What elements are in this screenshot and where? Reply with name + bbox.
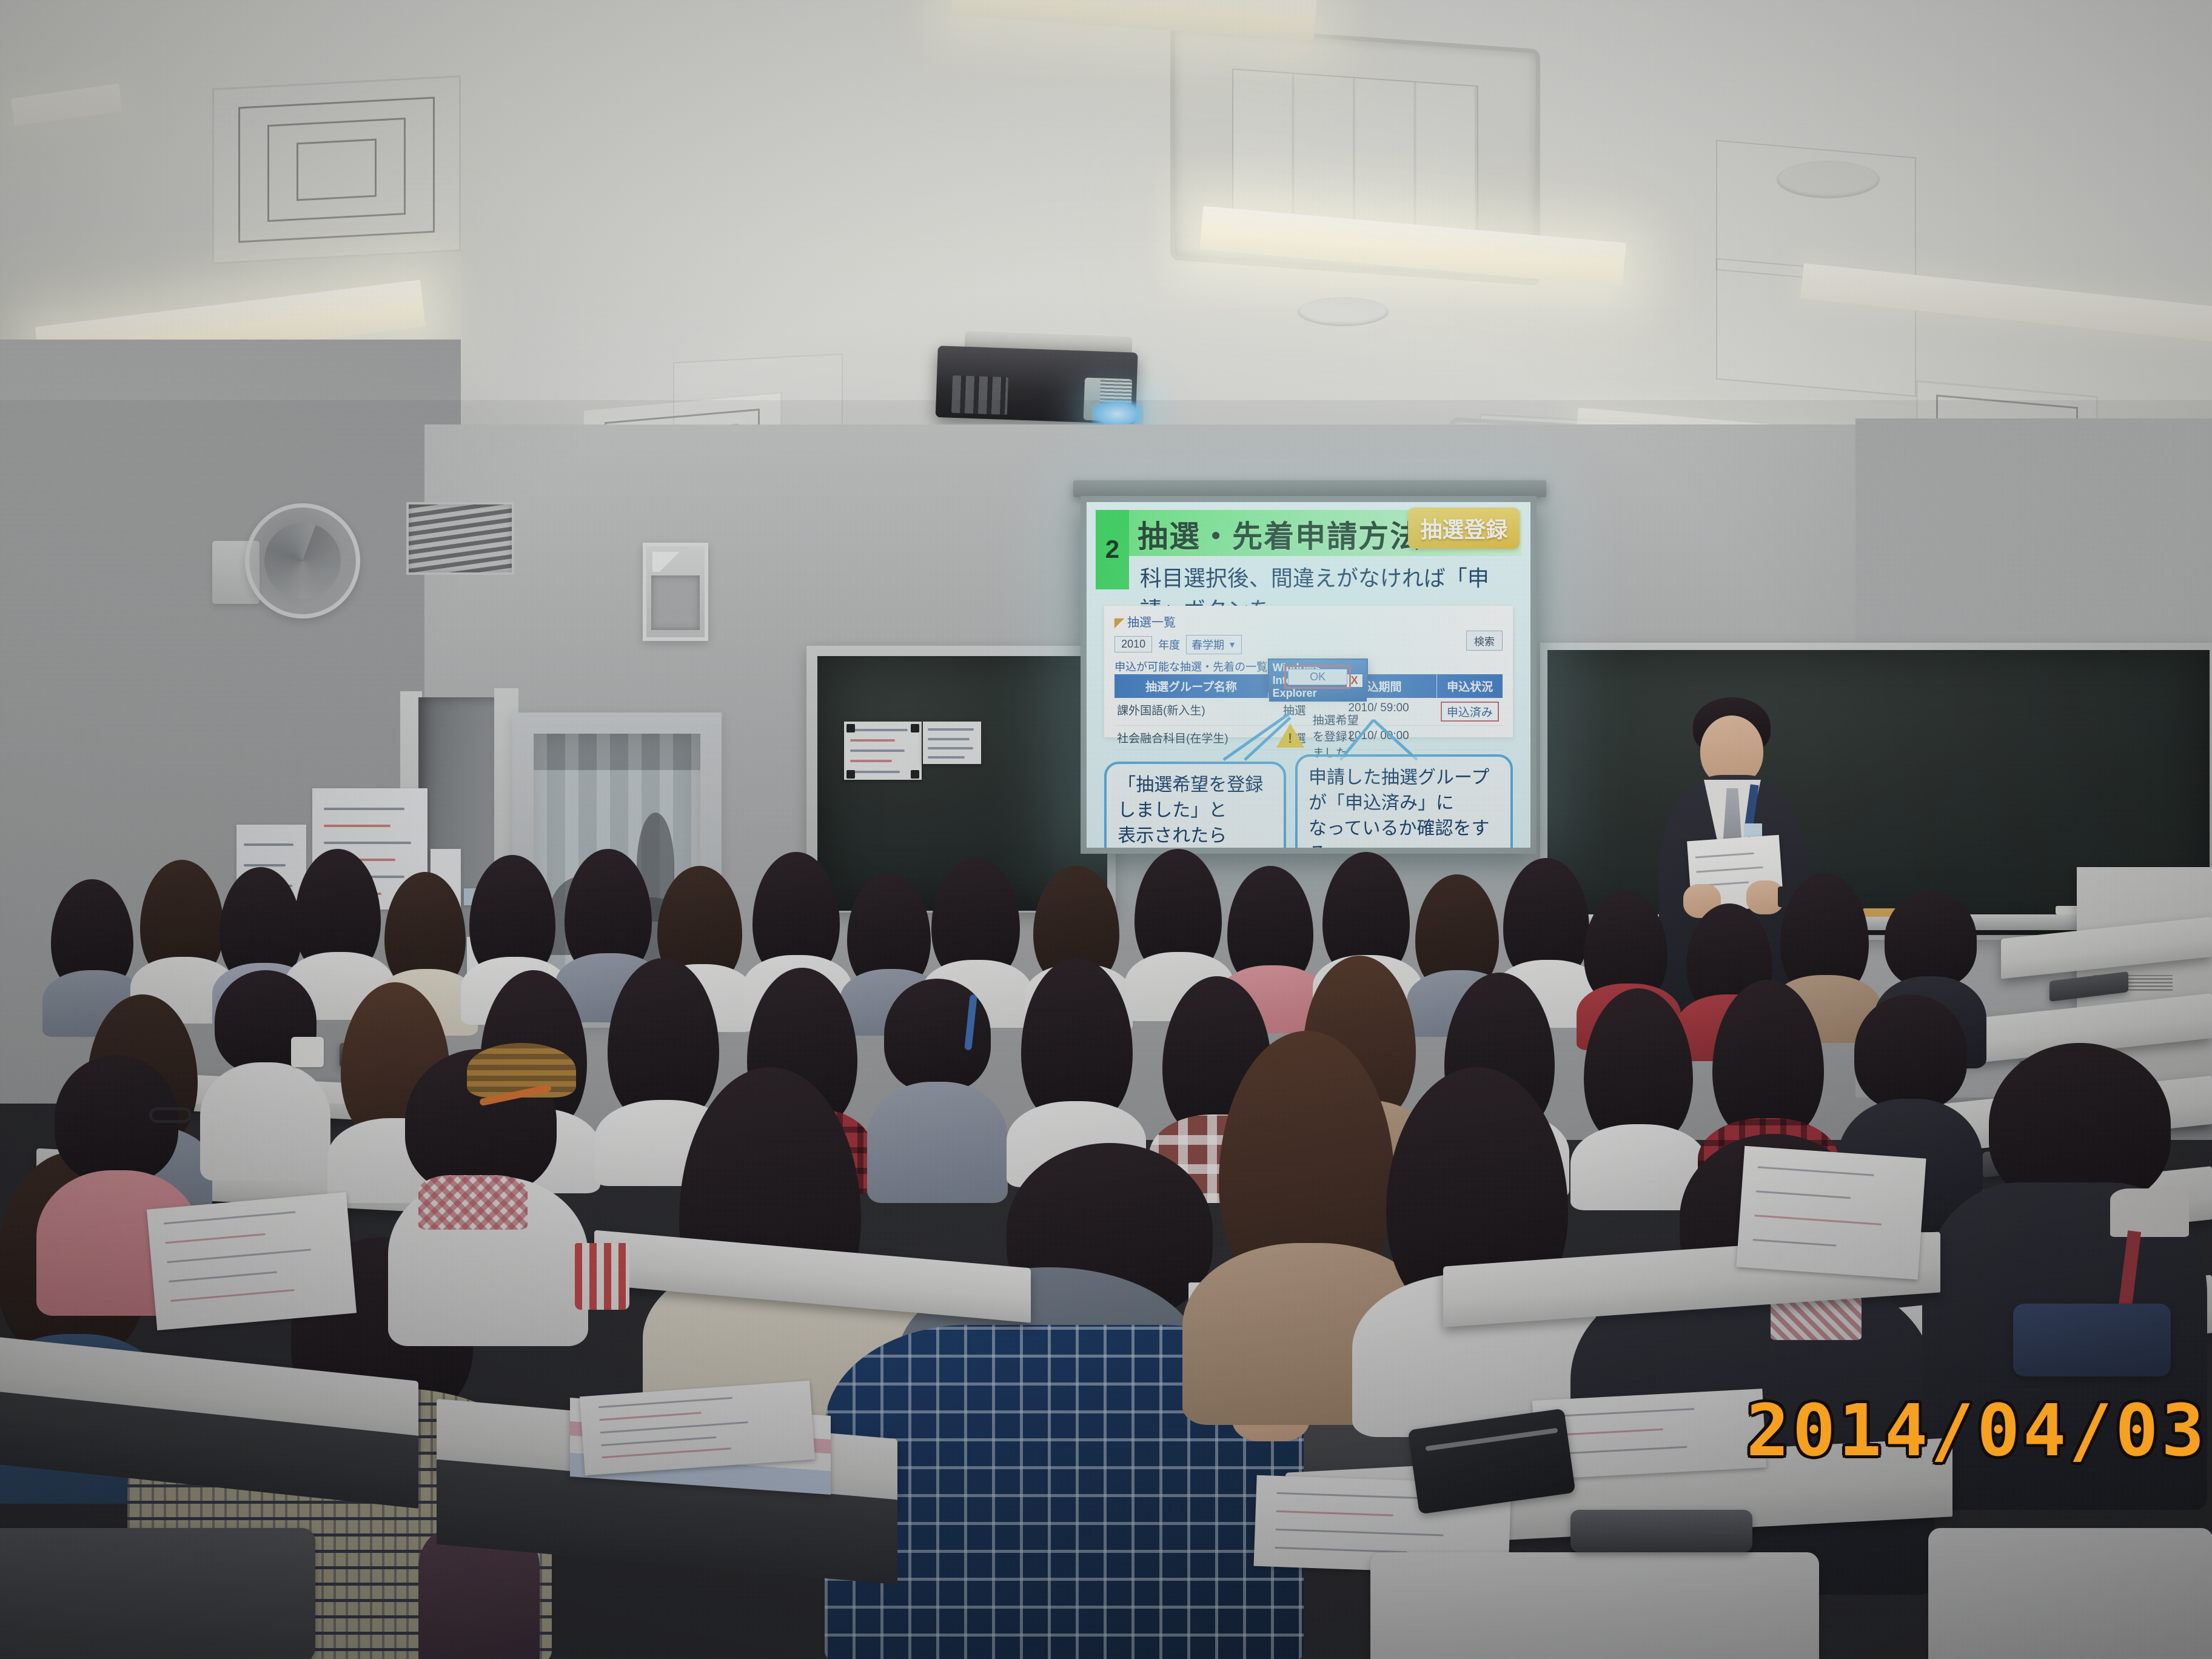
blackboard-magnet-2[interactable] bbox=[911, 724, 919, 732]
speaker-mesh-icon bbox=[651, 575, 700, 630]
handout-paper-5[interactable] bbox=[1736, 1146, 1926, 1279]
callout-left-line1: 「抽選希望を登録しました」と bbox=[1118, 773, 1273, 823]
projector-keypad-icon bbox=[951, 375, 1008, 415]
student-shirt-collar bbox=[2110, 1188, 2189, 1237]
speaker-logo-icon bbox=[652, 552, 688, 572]
knit-hat[interactable] bbox=[467, 1043, 576, 1098]
callout-left-line2: 表示されたら「OK」を bbox=[1118, 823, 1273, 848]
blackboard-poster-2 bbox=[923, 722, 981, 764]
student-m2 bbox=[200, 970, 330, 1176]
ceiling-speaker-dot-2 bbox=[1298, 297, 1389, 326]
student-hair bbox=[1885, 891, 1977, 987]
foreground-chair-1[interactable] bbox=[1370, 1552, 1819, 1659]
lecture-hall-photo: 2 抽選・先着申請方法 抽選登録 科目選択後、間違えがなければ「申請」ボタンを … bbox=[0, 0, 2212, 1659]
foreground-chair-arm[interactable] bbox=[1570, 1510, 1752, 1552]
blackboard-magnet-4[interactable] bbox=[911, 770, 919, 779]
blackboard-magnet-3[interactable] bbox=[846, 770, 855, 779]
handout-paper-4[interactable] bbox=[147, 1192, 357, 1330]
camera-date-stamp: 2014/04/03 bbox=[1746, 1389, 2207, 1472]
blackboard-poster-1 bbox=[844, 722, 922, 780]
wall-ventilation-grille bbox=[406, 502, 514, 575]
student-top bbox=[200, 1062, 330, 1181]
tote-bag[interactable] bbox=[2013, 1304, 2171, 1376]
projection-screen: 2 抽選・先着申請方法 抽選登録 科目選択後、間違えがなければ「申請」ボタンを … bbox=[1087, 502, 1530, 848]
projection-screen-border: 2 抽選・先着申請方法 抽選登録 科目選択後、間違えがなければ「申請」ボタンを … bbox=[1081, 496, 1537, 854]
callout-left: 「抽選希望を登録しました」と 表示されたら「OK」を 選択してください。 bbox=[1104, 762, 1286, 848]
student-hair bbox=[1712, 980, 1824, 1134]
student-hair bbox=[1021, 958, 1133, 1118]
wall-speaker bbox=[643, 543, 708, 641]
callout-right-line2: なっているか確認をする。 bbox=[1309, 816, 1500, 848]
callout-right-line1: 申請した抽選グループが「申込済み」に bbox=[1309, 765, 1500, 816]
fan-cage-icon bbox=[245, 503, 360, 618]
eyeglasses-icon bbox=[149, 1107, 192, 1123]
presenter-id-badge bbox=[1744, 823, 1762, 837]
student-hair bbox=[1780, 873, 1869, 992]
student-f-white-right bbox=[1352, 1067, 1607, 1431]
foreground-chair-back-dark[interactable] bbox=[0, 1528, 315, 1659]
handout-paper-1[interactable] bbox=[580, 1381, 815, 1475]
blackboard-magnet-1[interactable] bbox=[846, 724, 855, 732]
student-gingham-collar bbox=[418, 1175, 528, 1230]
screen-roller-housing bbox=[1073, 480, 1546, 497]
striped-cup[interactable] bbox=[575, 1243, 629, 1310]
face-mask bbox=[291, 1037, 324, 1067]
ceiling-air-diffuser-1 bbox=[212, 75, 461, 264]
presentation-slide: 2 抽選・先着申請方法 抽選登録 科目選択後、間違えがなければ「申請」ボタンを … bbox=[1087, 502, 1530, 848]
foreground-chair-2[interactable] bbox=[1928, 1528, 2212, 1659]
callout-right: 申請した抽選グループが「申込済み」に なっているか確認をする。 ※「申込み済」に… bbox=[1295, 754, 1513, 848]
wall-mounted-fan bbox=[212, 503, 364, 625]
ceiling-speaker-dot-3 bbox=[1777, 161, 1880, 198]
